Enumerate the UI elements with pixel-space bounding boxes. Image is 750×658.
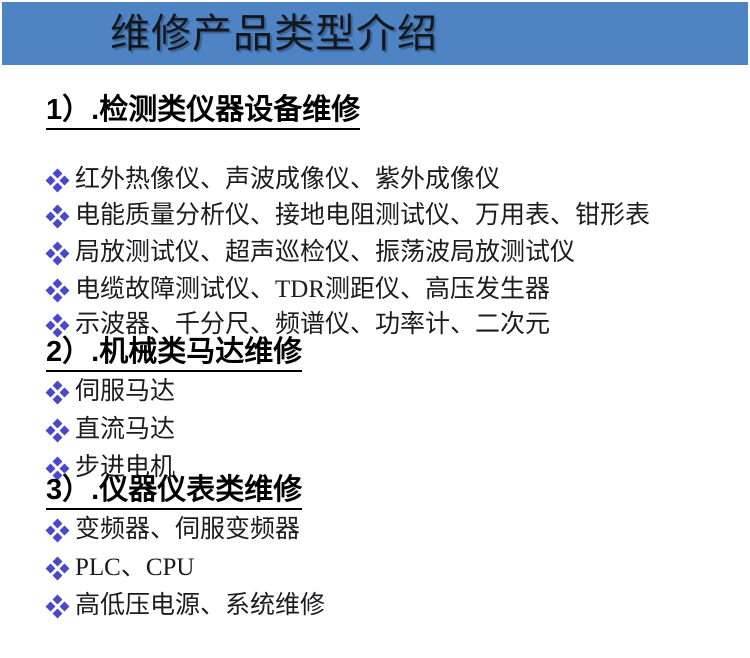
section-heading-2: 2）.机械类马达维修 <box>46 335 302 372</box>
section-heading-1: 1）.检测类仪器设备维修 <box>46 93 360 130</box>
slide-body: 1）.检测类仪器设备维修 红外热像仪、声波成像仪、紫外成像仪 <box>0 65 750 658</box>
diamond-cluster-bullet-icon <box>44 594 70 620</box>
list-item[interactable]: 高低压电源、系统维修 <box>44 591 325 621</box>
section-dot-2: . <box>91 336 99 368</box>
list-item[interactable]: 电缆故障测试仪、TDR测距仪、高压发生器 <box>44 275 550 305</box>
section-number-1: 1） <box>46 94 91 126</box>
list-item[interactable]: 电能质量分析仪、接地电阻测试仪、万用表、钳形表 <box>44 201 650 231</box>
list-item-label: 变频器、伺服变频器 <box>70 515 300 545</box>
list-item-label: 电能质量分析仪、接地电阻测试仪、万用表、钳形表 <box>70 201 650 231</box>
section-title-1: 检测类仪器设备维修 <box>99 94 360 126</box>
list-item-label: 红外热像仪、声波成像仪、紫外成像仪 <box>70 165 500 195</box>
section-dot-3: . <box>91 474 99 506</box>
diamond-cluster-bullet-icon <box>44 168 70 194</box>
list-item[interactable]: 变频器、伺服变频器 <box>44 515 300 545</box>
section-title-2: 机械类马达维修 <box>99 336 302 368</box>
section-heading-3: 3）.仪器仪表类维修 <box>46 473 302 510</box>
diamond-cluster-bullet-icon <box>44 418 70 444</box>
section-number-2: 2） <box>46 336 91 368</box>
list-item[interactable]: 伺服马达 <box>44 377 175 407</box>
diamond-cluster-bullet-icon <box>44 380 70 406</box>
list-item-label: 高低压电源、系统维修 <box>70 591 325 621</box>
list-item-label: 伺服马达 <box>70 377 175 407</box>
list-item[interactable]: 红外热像仪、声波成像仪、紫外成像仪 <box>44 165 500 195</box>
list-item[interactable]: 局放测试仪、超声巡检仪、振荡波局放测试仪 <box>44 238 575 268</box>
slide-root: 维修产品类型介绍 1）.检测类仪器设备维修 红外热像仪、声波成像仪、紫外成像仪 <box>0 0 750 658</box>
list-item[interactable]: PLC、CPU <box>44 553 194 583</box>
list-item-label: 直流马达 <box>70 415 175 445</box>
section-number-3: 3） <box>46 474 91 506</box>
list-item-label: 电缆故障测试仪、TDR测距仪、高压发生器 <box>70 275 550 305</box>
list-item-label: 局放测试仪、超声巡检仪、振荡波局放测试仪 <box>70 238 575 268</box>
diamond-cluster-bullet-icon <box>44 518 70 544</box>
page-title: 维修产品类型介绍 <box>110 8 438 60</box>
section-dot-1: . <box>91 94 99 126</box>
list-item[interactable]: 直流马达 <box>44 415 175 445</box>
list-item-label: PLC、CPU <box>70 553 194 583</box>
diamond-cluster-bullet-icon <box>44 556 70 582</box>
diamond-cluster-bullet-icon <box>44 204 70 230</box>
section-title-3: 仪器仪表类维修 <box>99 474 302 506</box>
title-banner: 维修产品类型介绍 <box>2 2 748 65</box>
diamond-cluster-bullet-icon <box>44 278 70 304</box>
diamond-cluster-bullet-icon <box>44 241 70 267</box>
